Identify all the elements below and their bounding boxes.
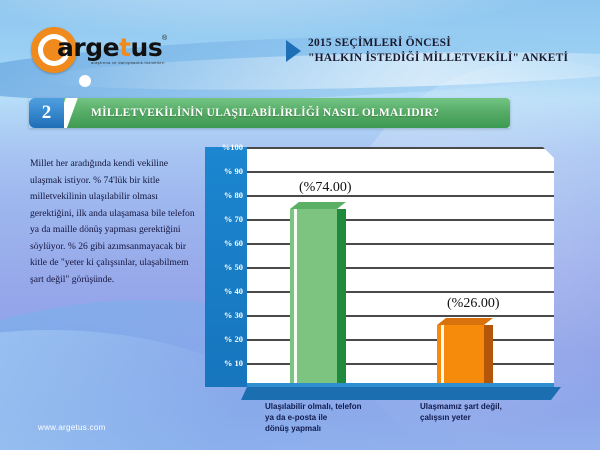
question-number-badge: 2 [29, 98, 64, 128]
bars-layer: (%74.00)(%26.00) [247, 147, 554, 387]
banner-slash-divider [64, 98, 80, 128]
y-axis-tick-labels: %100% 90% 80% 70% 60% 50% 40% 30% 20% 10 [205, 147, 247, 387]
triangle-arrow-icon [286, 40, 301, 62]
question-banner: 2 MİLLETVEKİLİNİN ULAŞILABİLİRLİĞİ NASIL… [29, 98, 510, 128]
category-label-2: Ulaşmamız şart değil,çalışsın yeter [420, 401, 502, 423]
logo-word-part-3: us [131, 33, 163, 62]
commentary-paragraph: Millet her aradığında kendi vekiline ula… [30, 156, 195, 288]
bar-chart: %100% 90% 80% 70% 60% 50% 40% 30% 20% 10… [205, 147, 560, 395]
bar-value-label-1: (%74.00) [299, 180, 352, 196]
category-label-line: Ulaşmamız şart değil, [420, 401, 502, 412]
y-axis-tick-90: % 90 [205, 166, 243, 176]
logo-tagline: araştırma ve danışmanlık hizmetleri [91, 60, 165, 65]
chart-base-front [241, 387, 561, 400]
logo-word-part-2: t [119, 33, 130, 62]
y-axis-tick-10: % 10 [205, 358, 243, 368]
header-title: 2015 SEÇİMLERİ ÖNCESİ "HALKIN İSTEDİĞİ M… [286, 36, 568, 65]
y-axis-tick-30: % 30 [205, 310, 243, 320]
header-title-line1: 2015 SEÇİMLERİ ÖNCESİ [308, 36, 568, 51]
bar-side [337, 209, 346, 387]
category-label-line: ya da e-posta ile [265, 412, 361, 423]
logo-word-part-1: arge [57, 33, 119, 62]
bar-2[interactable] [437, 325, 484, 387]
y-axis-tick-80: % 80 [205, 190, 243, 200]
bar-1[interactable] [290, 209, 337, 387]
bar-value-label-2: (%26.00) [447, 296, 500, 312]
bar-highlight [294, 209, 297, 387]
y-axis-tick-60: % 60 [205, 238, 243, 248]
header-title-lines: 2015 SEÇİMLERİ ÖNCESİ "HALKIN İSTEDİĞİ M… [308, 36, 568, 65]
argetus-logo: argetus ® araştırma ve danışmanlık hizme… [31, 27, 176, 73]
category-label-line: dönüş yapmalı [265, 423, 361, 434]
target-center-dot-icon [79, 75, 91, 87]
logo-wordmark: argetus [57, 33, 162, 62]
registered-trademark-mark: ® [162, 35, 167, 42]
y-axis-tick-100: %100 [205, 142, 243, 152]
question-text: MİLLETVEKİLİNİN ULAŞILABİLİRLİĞİ NASIL O… [80, 98, 510, 128]
y-axis-tick-50: % 50 [205, 262, 243, 272]
footer-website: www.argetus.com [38, 423, 106, 432]
bar-top [290, 202, 346, 209]
y-axis-tick-20: % 20 [205, 334, 243, 344]
category-label-line: çalışsın yeter [420, 412, 502, 423]
y-axis-tick-40: % 40 [205, 286, 243, 296]
header-title-line2: "HALKIN İSTEDİĞİ MİLLETVEKİLİ" ANKETİ [308, 51, 568, 66]
bar-top [437, 318, 493, 325]
category-label-1: Ulaşılabilir olmalı, telefonya da e-post… [265, 401, 361, 434]
y-axis-tick-70: % 70 [205, 214, 243, 224]
bar-face [437, 325, 484, 387]
bar-highlight [441, 325, 444, 387]
category-label-line: Ulaşılabilir olmalı, telefon [265, 401, 361, 412]
x-axis-category-labels: Ulaşılabilir olmalı, telefonya da e-post… [205, 401, 565, 441]
bar-face [290, 209, 337, 387]
bar-side [484, 325, 493, 387]
slide-canvas: argetus ® araştırma ve danışmanlık hizme… [0, 0, 600, 450]
